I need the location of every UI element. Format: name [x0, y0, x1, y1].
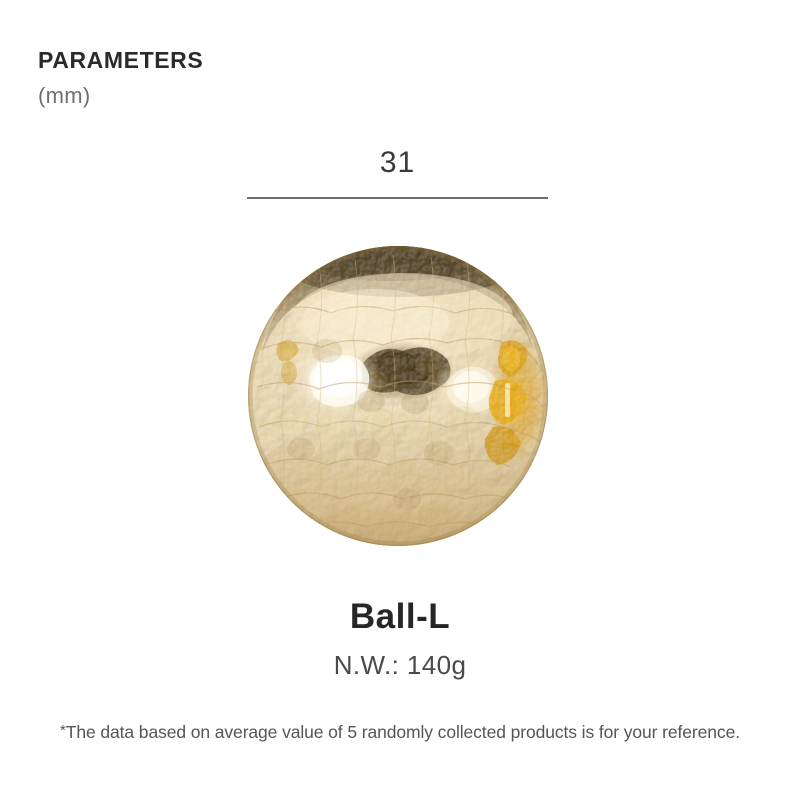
page-title: PARAMETERS — [38, 48, 458, 73]
footnote-text: The data based on average value of 5 ran… — [66, 722, 740, 742]
parameters-header: PARAMETERS (mm) — [38, 48, 458, 108]
product-name: Ball-L — [0, 598, 800, 637]
product-caption: Ball-L N.W.: 140g — [0, 598, 800, 679]
product-net-weight: N.W.: 140g — [0, 651, 800, 680]
dimension-line — [247, 197, 548, 199]
dimension-callout: 31 — [247, 148, 548, 199]
gold-ball-icon — [243, 231, 553, 561]
footnote: *The data based on average value of 5 ra… — [0, 722, 800, 743]
product-image-hammered-gold-ball — [243, 231, 553, 561]
dimension-value-width: 31 — [247, 148, 548, 178]
unit-label: (mm) — [38, 84, 458, 108]
